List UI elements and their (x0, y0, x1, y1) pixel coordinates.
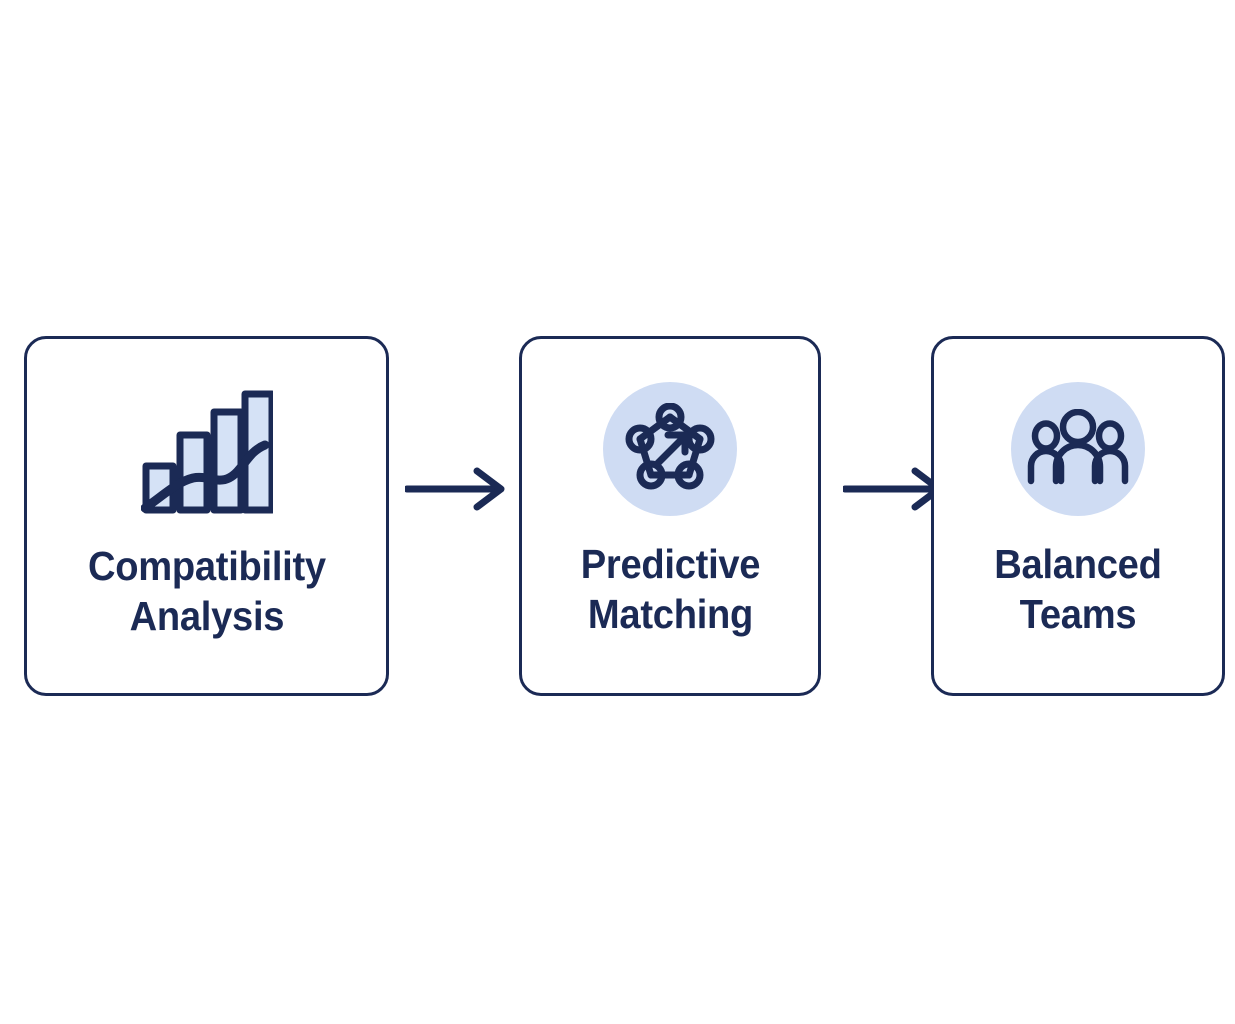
people-group-icon-wrap (1006, 377, 1150, 521)
network-nodes-icon-wrap (598, 377, 742, 521)
flow-step-card-predictive-matching[interactable]: Predictive Matching (519, 336, 821, 696)
flow-step-label-predictive-matching: Predictive Matching (580, 539, 759, 639)
people-group-icon (1027, 409, 1129, 489)
bar-chart-trend-icon-wrap (137, 383, 277, 523)
process-flow-diagram: Compatibility Analysis (0, 0, 1235, 1024)
network-nodes-icon (624, 403, 716, 495)
arrow-right-icon (405, 466, 511, 512)
flow-connector-1 (405, 466, 511, 512)
bar-chart-trend-icon (141, 390, 273, 516)
flow-step-label-balanced-teams: Balanced Teams (994, 539, 1161, 639)
flow-step-card-compatibility-analysis[interactable]: Compatibility Analysis (24, 336, 389, 696)
flow-step-label-compatibility-analysis: Compatibility Analysis (88, 541, 326, 641)
flow-step-card-balanced-teams[interactable]: Balanced Teams (931, 336, 1225, 696)
